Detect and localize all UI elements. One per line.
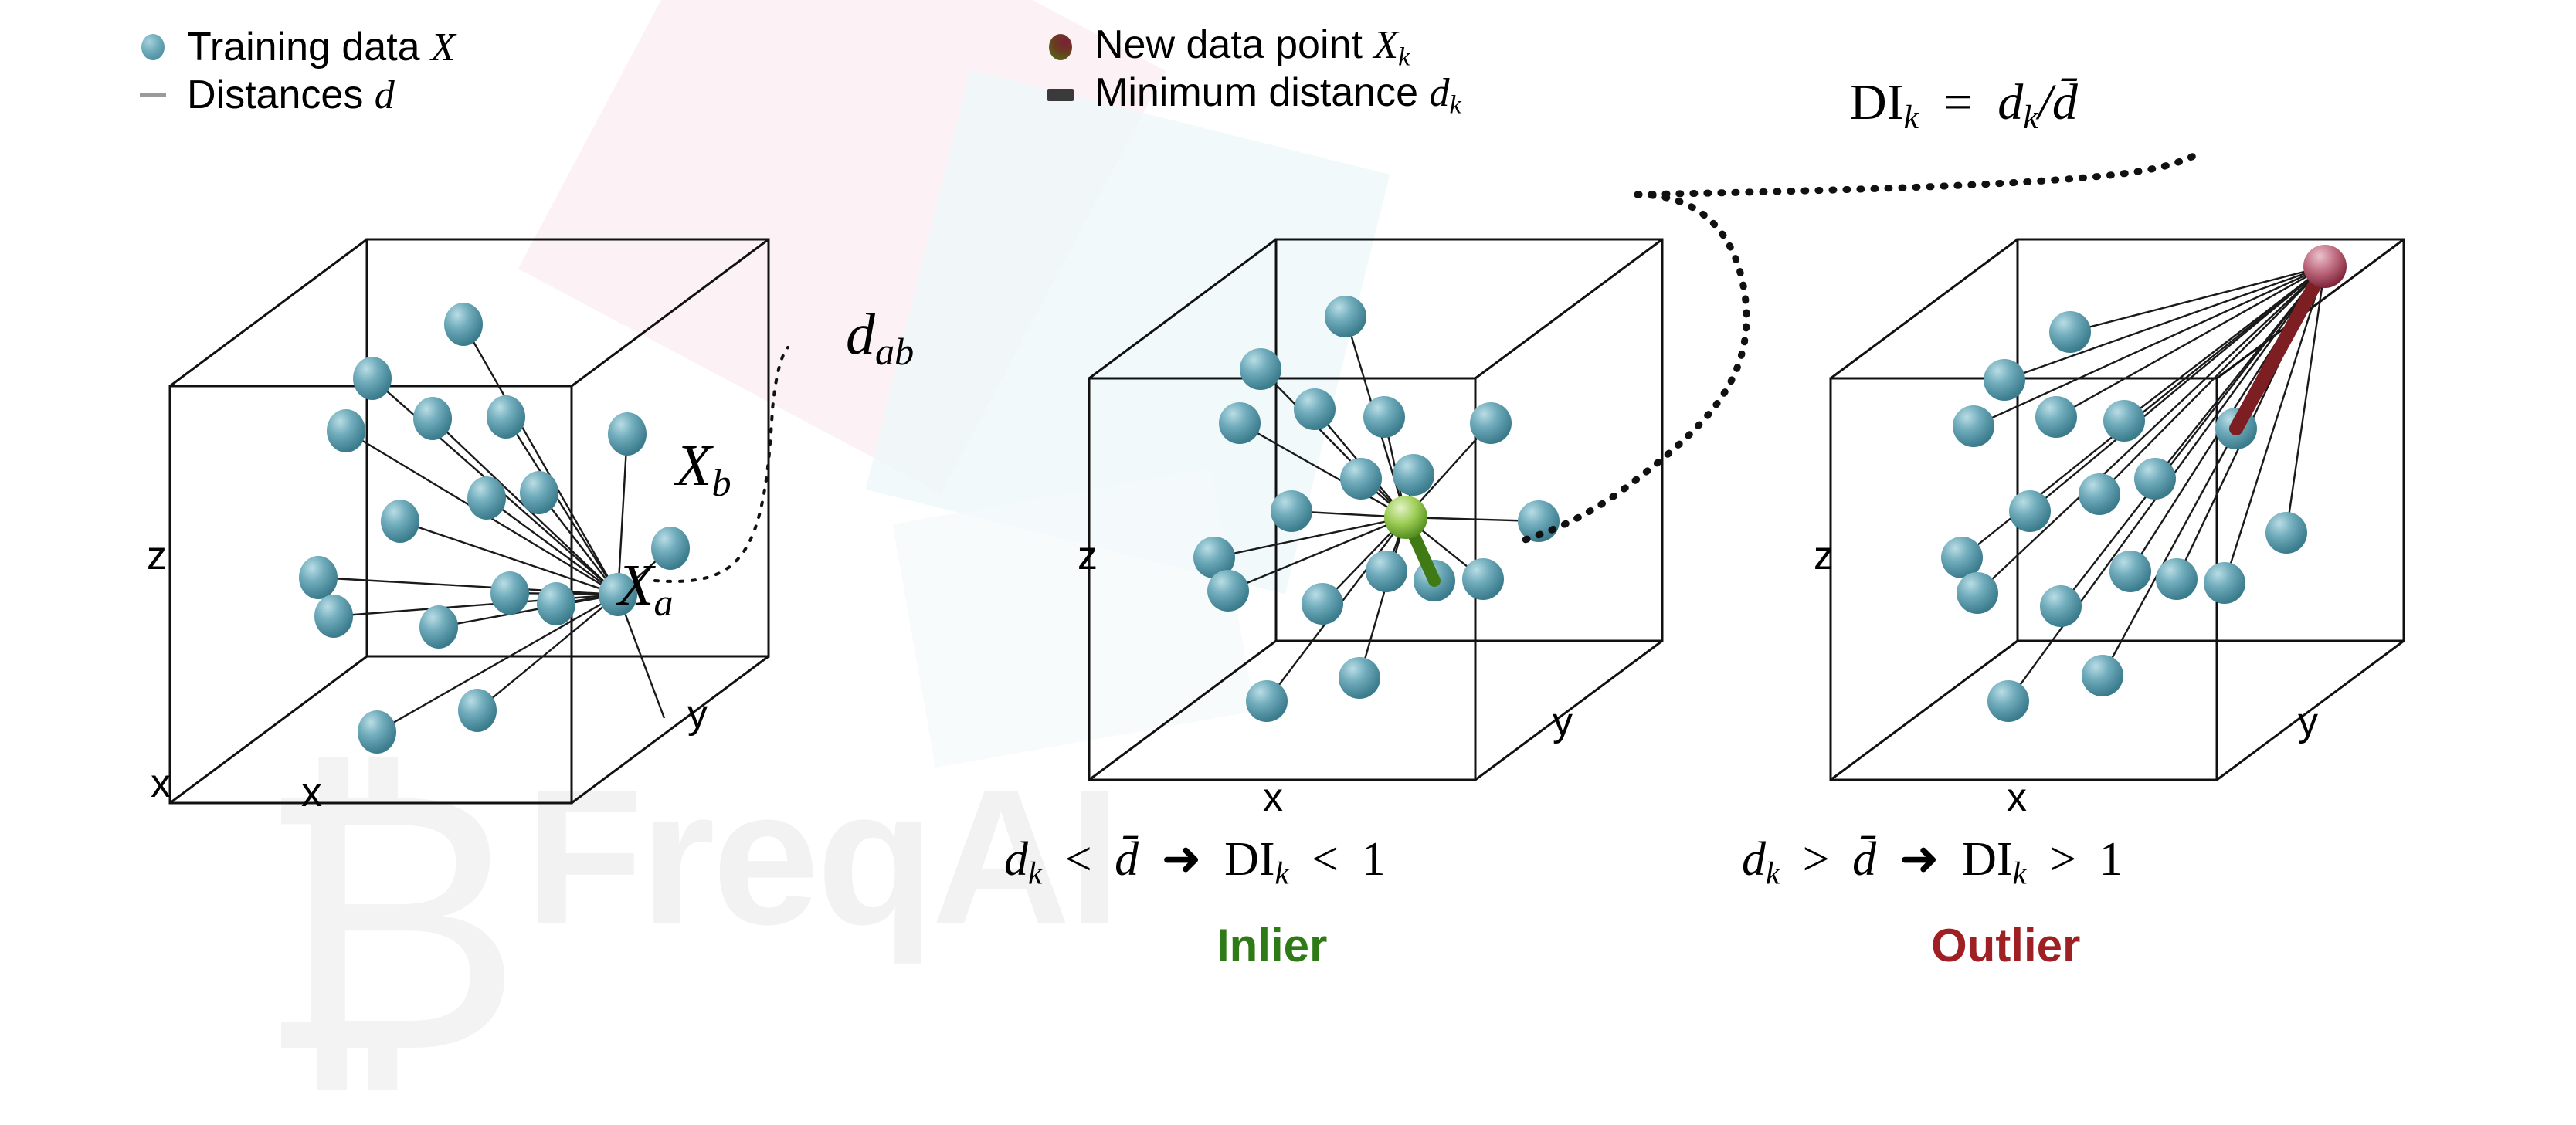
training-points xyxy=(299,303,690,754)
panel-training-axis-x: x xyxy=(151,761,171,807)
outlier-verdict-badge: Outlier xyxy=(1931,919,2080,972)
legend-label-distances: Distances d xyxy=(187,72,395,118)
dk-connector-leader xyxy=(1514,147,2286,548)
panel-inlier-axis-y: y xyxy=(1553,699,1573,745)
new-point-dot-marker-icon xyxy=(1039,34,1082,60)
new-point-legend: New data point Xk Minimum distance dk xyxy=(1039,23,1461,119)
axis-x-left: x xyxy=(301,768,322,816)
dab-callout-label: dab xyxy=(846,301,914,374)
panel-inlier-axis-x: x xyxy=(1263,774,1283,821)
legend-label-training-data: Training data X xyxy=(187,24,456,70)
new-data-point xyxy=(2303,245,2347,288)
panel-outlier-axis-y: y xyxy=(2298,699,2318,745)
panel-outlier-axis-z: z xyxy=(1814,533,1834,579)
training-legend: Training data X Distances d xyxy=(131,23,456,119)
legend-label-minimum-distance: Minimum distance dk xyxy=(1095,69,1461,120)
panel-training-axis-x-label xyxy=(323,774,334,821)
blue-dot-marker-icon xyxy=(131,34,175,60)
thick-dash-marker-icon xyxy=(1039,89,1082,101)
legend-item-minimum-distance: Minimum distance dk xyxy=(1039,71,1461,119)
outlier-caption: dk > d̄ ➜ DIk > 1 xyxy=(1742,830,2123,891)
diagram-stage: ₿ FreqAI Training data X Distances d New… xyxy=(0,0,2576,1022)
inlier-verdict-badge: Inlier xyxy=(1217,919,1327,972)
panel-inlier-axis-z: z xyxy=(1078,533,1098,579)
legend-label-new-data-point: New data point Xk xyxy=(1095,22,1410,73)
training-points xyxy=(1193,296,1560,722)
legend-item-new-data-point: New data point Xk xyxy=(1039,23,1461,71)
panel-training-axis-y: y xyxy=(687,691,708,737)
new-data-point xyxy=(1384,496,1427,539)
panel-outlier-axis-x: x xyxy=(2007,774,2027,821)
thin-dash-marker-icon xyxy=(131,93,175,97)
legend-item-distances: Distances d xyxy=(131,71,456,119)
legend-item-training-data: Training data X xyxy=(131,23,456,71)
inlier-caption: dk < d̄ ➜ DIk < 1 xyxy=(1004,830,1386,891)
point-label-xa: Xa xyxy=(618,552,674,625)
di-definition-formula: DIk = dk/d̄ xyxy=(1850,73,2078,137)
point-label-xb: Xb xyxy=(676,432,731,505)
panel-training-axis-z: z xyxy=(147,533,167,579)
